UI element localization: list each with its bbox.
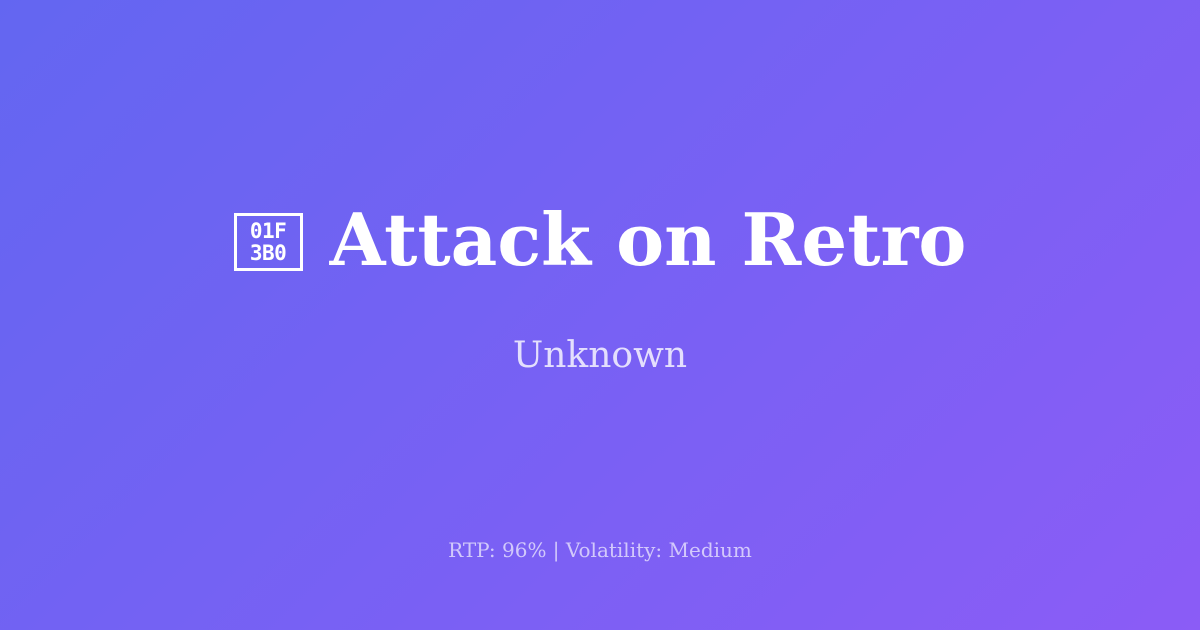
card-content-stack: 01F 3B0 Attack on Retro Unknown [0,0,1200,630]
card-footer: RTP: 96% | Volatility: Medium [0,538,1200,562]
game-stats-meta: RTP: 96% | Volatility: Medium [448,538,752,562]
title-row: 01F 3B0 Attack on Retro [0,202,1200,278]
og-share-card: 01F 3B0 Attack on Retro Unknown RTP: 96%… [0,0,1200,630]
tofu-codepoint-bottom: 3B0 [250,242,286,264]
page-title: Attack on Retro [330,202,967,278]
card-subtitle: Unknown [513,336,687,376]
tofu-codepoint-top: 01F [250,220,286,242]
slot-machine-emoji-icon: 01F 3B0 [234,213,303,271]
